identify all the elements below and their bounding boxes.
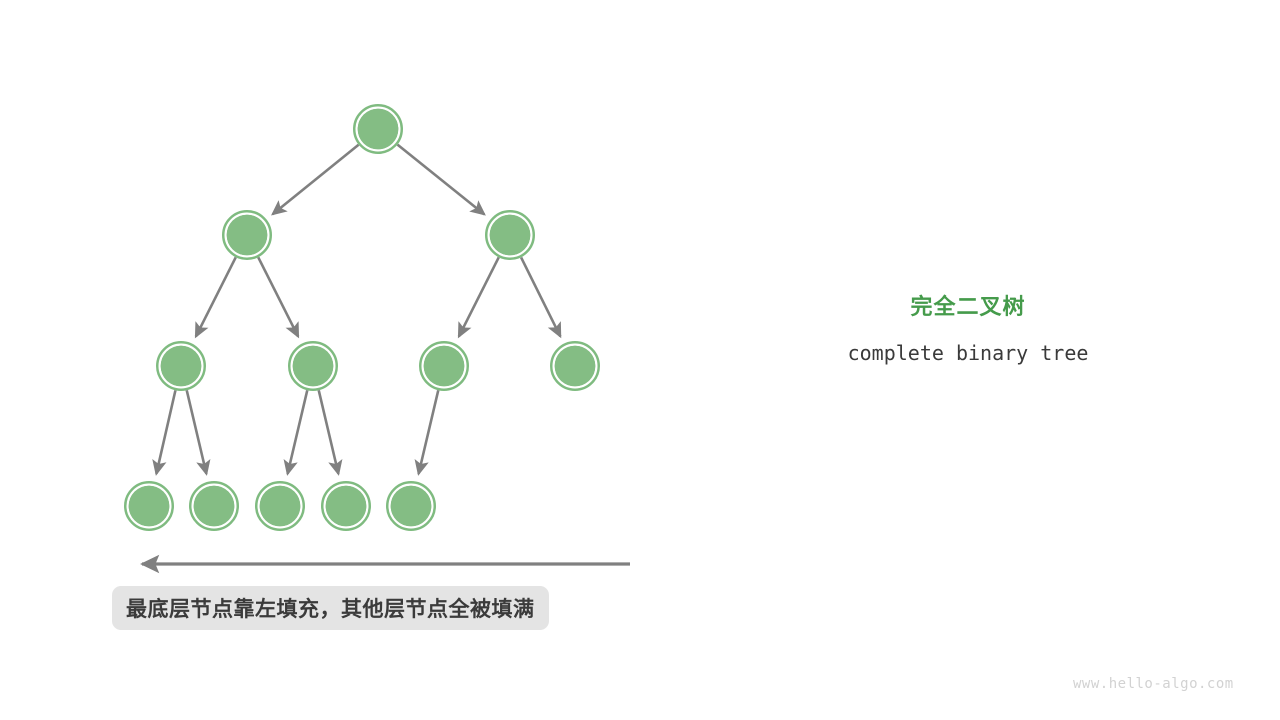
tree-edge (459, 257, 499, 336)
node-body (227, 215, 268, 256)
node-body (293, 346, 334, 387)
node-body (555, 346, 596, 387)
node-body (129, 486, 170, 527)
tree-node (420, 342, 468, 390)
node-body (391, 486, 432, 527)
tree-edges (156, 145, 560, 474)
tree-nodes (125, 105, 599, 530)
tree-node (551, 342, 599, 390)
tree-node (125, 482, 173, 530)
tree-edge (196, 257, 236, 336)
node-body (161, 346, 202, 387)
tree-node (322, 482, 370, 530)
node-body (194, 486, 235, 527)
legend-title: 完全二叉树 (768, 292, 1168, 322)
tree-edge (273, 145, 359, 215)
tree-edge (521, 257, 560, 336)
node-body (326, 486, 367, 527)
tree-node (486, 211, 534, 259)
tree-edge (419, 390, 439, 474)
tree-edge (156, 390, 175, 473)
caption-text: 最底层节点靠左填充，其他层节点全被填满 (126, 593, 535, 623)
tree-edge (288, 390, 308, 474)
tree-edge (397, 145, 484, 215)
watermark: www.hello-algo.com (1073, 676, 1234, 692)
node-body (260, 486, 301, 527)
tree-node (190, 482, 238, 530)
node-body (424, 346, 465, 387)
tree-node (289, 342, 337, 390)
tree-node (354, 105, 402, 153)
legend-block: 完全二叉树 complete binary tree (768, 292, 1168, 367)
legend-subtitle: complete binary tree (768, 339, 1168, 367)
node-body (358, 109, 399, 150)
tree-node (387, 482, 435, 530)
tree-edge (258, 257, 298, 336)
caption-box: 最底层节点靠左填充，其他层节点全被填满 (112, 586, 549, 630)
node-body (490, 215, 531, 256)
tree-node (223, 211, 271, 259)
tree-node (157, 342, 205, 390)
tree-node (256, 482, 304, 530)
tree-edge (187, 390, 207, 474)
tree-edge (319, 390, 339, 474)
diagram-stage: 完全二叉树 complete binary tree 最底层节点靠左填充，其他层… (0, 0, 1280, 720)
